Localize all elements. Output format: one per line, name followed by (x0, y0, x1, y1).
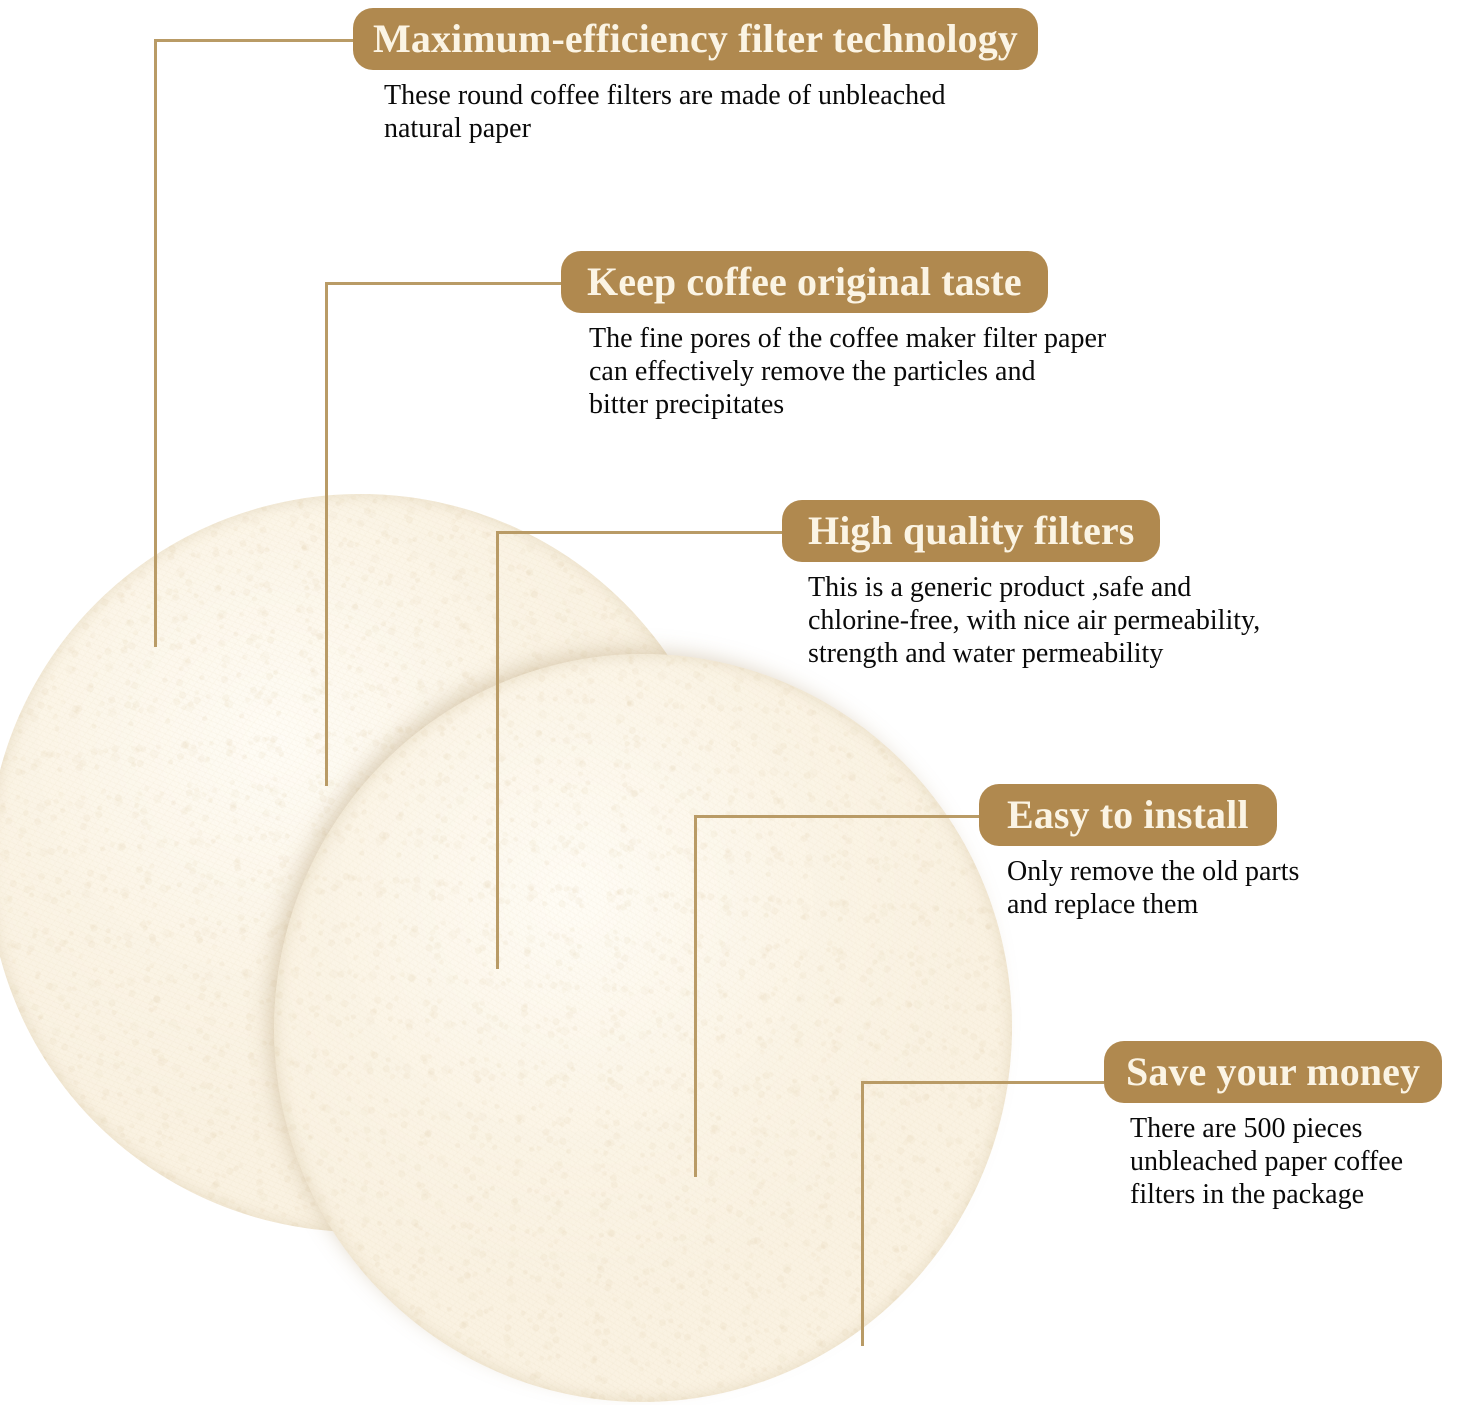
callout-4-description: Only remove the old parts and replace th… (1007, 855, 1459, 921)
infographic-canvas: Maximum-efficiency filter technology The… (0, 0, 1472, 1405)
leader-line-1-vertical (154, 39, 157, 647)
callout-1-description: These round coffee filters are made of u… (384, 79, 1153, 145)
leader-line-1 (154, 39, 354, 647)
leader-line-4-horizontal (694, 815, 979, 818)
leader-line-4-vertical (694, 815, 697, 1177)
callout-5-title-badge[interactable]: Save your money (1104, 1041, 1442, 1103)
leader-line-5 (861, 1081, 1104, 1346)
callout-3-description: This is a generic product ,safe and chlo… (808, 571, 1402, 670)
leader-line-2-horizontal (325, 282, 561, 285)
callout-2-description: The fine pores of the coffee maker filte… (589, 322, 1261, 421)
callout-save-your-money: Save your money There are 500 pieces unb… (1104, 1041, 1472, 1211)
callout-keep-coffee-original-taste: Keep coffee original taste The fine pore… (561, 251, 1261, 421)
callout-4-title-badge[interactable]: Easy to install (979, 784, 1277, 846)
leader-line-5-vertical (861, 1081, 864, 1346)
callout-5-description: There are 500 pieces unbleached paper co… (1130, 1112, 1472, 1211)
callout-easy-to-install: Easy to install Only remove the old part… (979, 784, 1459, 921)
callout-3-title-badge[interactable]: High quality filters (782, 500, 1160, 562)
callout-2-title-badge[interactable]: Keep coffee original taste (561, 251, 1048, 313)
leader-line-3-horizontal (496, 531, 782, 534)
leader-line-3-vertical (496, 531, 499, 969)
callout-high-quality-filters: High quality filters This is a generic p… (782, 500, 1402, 670)
leader-line-2-vertical (325, 282, 328, 786)
callout-1-title-badge[interactable]: Maximum-efficiency filter technology (353, 8, 1038, 70)
callout-maximum-efficiency-filter-technology: Maximum-efficiency filter technology The… (353, 8, 1153, 145)
leader-line-1-horizontal (154, 39, 354, 42)
leader-line-5-horizontal (861, 1081, 1104, 1084)
